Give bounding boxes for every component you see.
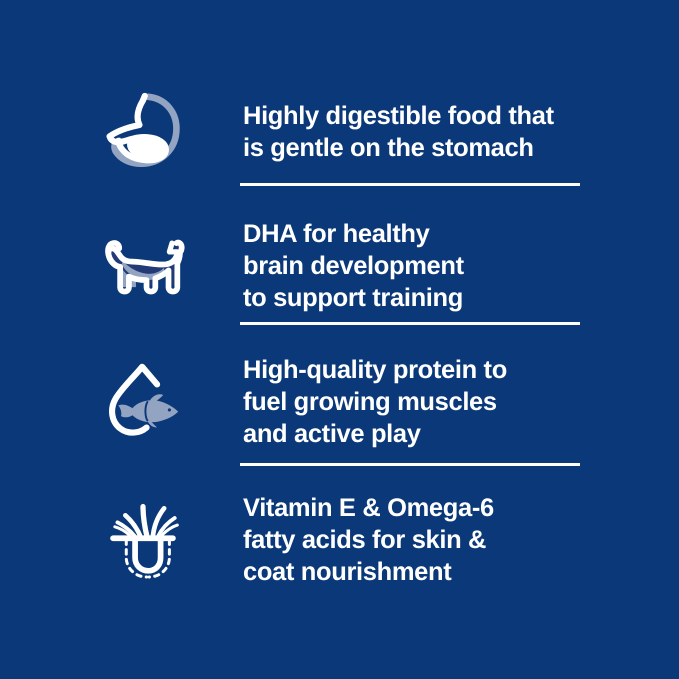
benefits-list: Highly digestible food that is gentle on… [0, 0, 679, 679]
benefit-divider [240, 183, 580, 186]
benefit-text: DHA for healthy brain development to sup… [243, 218, 595, 314]
dog-icon [95, 218, 191, 314]
benefit-text: High-quality protein to fuel growing mus… [243, 354, 595, 450]
benefit-row: Vitamin E & Omega-6 fatty acids for skin… [95, 490, 595, 590]
benefits-panel: Highly digestible food that is gentle on… [0, 0, 679, 679]
benefit-divider [240, 463, 580, 466]
fish-droplet-icon [95, 354, 191, 450]
stomach-icon [95, 84, 191, 180]
benefit-text: Highly digestible food that is gentle on… [243, 100, 595, 164]
benefit-row: DHA for healthy brain development to sup… [95, 216, 595, 316]
benefit-divider [240, 322, 580, 325]
hair-follicle-icon [95, 492, 191, 588]
benefit-text: Vitamin E & Omega-6 fatty acids for skin… [243, 492, 595, 588]
benefit-row: High-quality protein to fuel growing mus… [95, 352, 595, 452]
benefit-row: Highly digestible food that is gentle on… [95, 84, 595, 180]
